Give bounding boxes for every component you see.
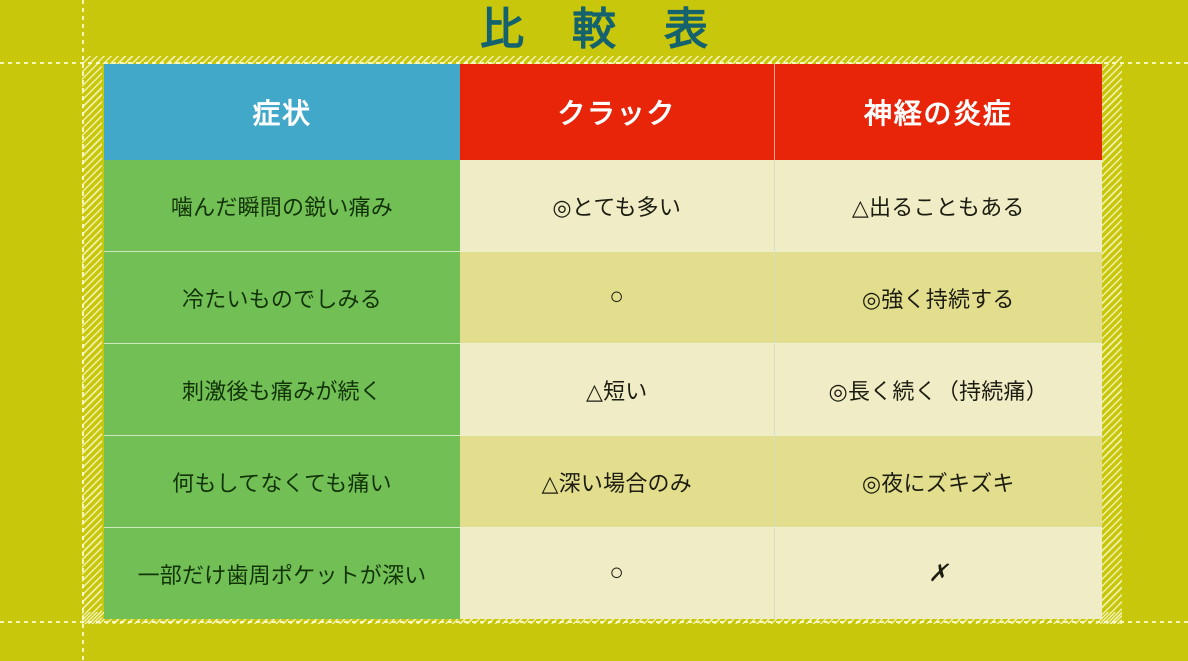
table-row: 何もしてなくても痛い △深い場合のみ ◎夜にズキズキ [104,436,1102,528]
cell-nerve: ◎強く持続する [774,252,1102,344]
cell-nerve: △出ることもある [774,160,1102,252]
cell-crack: ◎とても多い [460,160,774,252]
column-header-crack: クラック [460,64,774,160]
table-row: 冷たいものでしみる ○ ◎強く持続する [104,252,1102,344]
comparison-table-container: 症状 クラック 神経の炎症 噛んだ瞬間の鋭い痛み ◎とても多い △出ることもある… [104,64,1102,616]
table-header-row: 症状 クラック 神経の炎症 [104,64,1102,160]
cell-symptom: 噛んだ瞬間の鋭い痛み [104,160,460,252]
column-header-symptom: 症状 [104,64,460,160]
table-body: 噛んだ瞬間の鋭い痛み ◎とても多い △出ることもある 冷たいものでしみる ○ ◎… [104,160,1102,619]
mark-cross: ✗ [928,561,948,587]
cell-crack: △短い [460,344,774,436]
cell-nerve: ✗ [774,528,1102,620]
mark-circle: ○ [609,284,624,310]
page-title: 比 較 表 [0,2,1188,58]
cell-crack: △深い場合のみ [460,436,774,528]
cell-nerve: ◎夜にズキズキ [774,436,1102,528]
table-row: 一部だけ歯周ポケットが深い ○ ✗ [104,528,1102,620]
cell-symptom: 何もしてなくても痛い [104,436,460,528]
column-header-nerve: 神経の炎症 [774,64,1102,160]
cell-crack: ○ [460,252,774,344]
table-row: 刺激後も痛みが続く △短い ◎長く続く（持続痛） [104,344,1102,436]
cell-nerve: ◎長く続く（持続痛） [774,344,1102,436]
cell-symptom: 冷たいものでしみる [104,252,460,344]
table-row: 噛んだ瞬間の鋭い痛み ◎とても多い △出ることもある [104,160,1102,252]
cell-symptom: 刺激後も痛みが続く [104,344,460,436]
cell-symptom: 一部だけ歯周ポケットが深い [104,528,460,620]
comparison-table: 症状 クラック 神経の炎症 噛んだ瞬間の鋭い痛み ◎とても多い △出ることもある… [104,64,1102,619]
table-header: 症状 クラック 神経の炎症 [104,64,1102,160]
cell-crack: ○ [460,528,774,620]
mark-circle: ○ [609,560,624,586]
